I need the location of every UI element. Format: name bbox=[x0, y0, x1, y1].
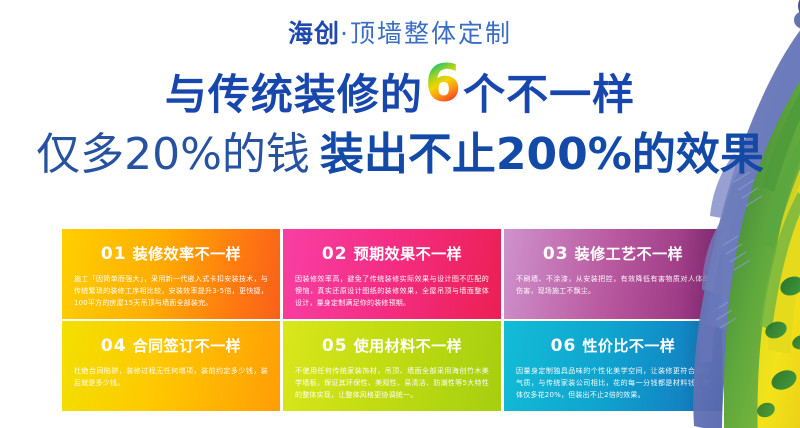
feature-card-05-header: 05使用材料不一样 bbox=[295, 335, 489, 356]
feature-card-01[interactable]: 01装修效率不一样 施工「因简单而强大」，采用新一代嵌入式卡扣安装技术，与传统繁… bbox=[62, 229, 280, 319]
feature-card-02-header: 02预期效果不一样 bbox=[295, 243, 489, 264]
feature-card-05[interactable]: 05使用材料不一样 不使用任何传统家装饰材，吊顶、墙面全部采用海创竹木美学墙板，… bbox=[283, 321, 501, 411]
brand-name-main: 海创 bbox=[288, 19, 340, 48]
feature-card-04[interactable]: 04合同签订不一样 杜绝合同陷阱，装修过程无任何增项，装前约定多少钱，装后就是多… bbox=[62, 321, 280, 411]
brand-name-sub: 顶墙整体定制 bbox=[350, 19, 512, 48]
feature-card-06-title: 性价比不一样 bbox=[582, 337, 675, 355]
feature-card-01-title: 装修效率不一样 bbox=[133, 245, 242, 263]
feature-card-06-number: 06 bbox=[551, 336, 577, 356]
feature-card-05-title: 使用材料不一样 bbox=[354, 337, 463, 355]
headline-1-number: 6 bbox=[425, 58, 461, 110]
feature-card-03[interactable]: 03装修工艺不一样 不刷墙、不涂漆，从安装把控，有效降低有害物质对人体的伤害，现… bbox=[504, 229, 722, 319]
feature-card-04-body: 杜绝合同陷阱，装修过程无任何增项，装前约定多少钱，装后就是多少钱。 bbox=[74, 365, 268, 389]
feature-card-02-title: 预期效果不一样 bbox=[354, 245, 463, 263]
feature-card-01-header: 01装修效率不一样 bbox=[74, 243, 268, 264]
feature-card-04-title: 合同签订不一样 bbox=[133, 337, 242, 355]
brand-line: 海创·顶墙整体定制 bbox=[0, 14, 800, 50]
feature-card-03-number: 03 bbox=[543, 244, 569, 264]
feature-card-03-title: 装修工艺不一样 bbox=[575, 245, 684, 263]
feature-card-05-number: 05 bbox=[322, 336, 348, 356]
feature-card-01-number: 01 bbox=[101, 244, 127, 264]
feature-card-03-body: 不刷墙、不涂漆，从安装把控，有效降低有害物质对人体的伤害，现场施工不飘尘。 bbox=[516, 273, 710, 297]
promo-poster: 海创·顶墙整体定制 与传统装修的6个不一样 仅多20%的钱装出不止200%的效果… bbox=[0, 0, 800, 428]
feature-cards-grid: 01装修效率不一样 施工「因简单而强大」，采用新一代嵌入式卡扣安装技术，与传统繁… bbox=[62, 229, 722, 411]
feature-card-02-number: 02 bbox=[322, 244, 348, 264]
feature-card-01-body: 施工「因简单而强大」，采用新一代嵌入式卡扣安装技术，与传统繁琐的装修工序相比较，… bbox=[74, 273, 268, 309]
feature-card-04-header: 04合同签订不一样 bbox=[74, 335, 268, 356]
feature-card-03-header: 03装修工艺不一样 bbox=[516, 243, 710, 264]
headline-1-prefix: 与传统装修的 bbox=[165, 70, 423, 119]
brand-name: 海创·顶墙整体定制 bbox=[288, 14, 512, 50]
headline-line-1: 与传统装修的6个不一样 bbox=[0, 58, 800, 122]
feature-card-02-body: 因装修效率高，避免了传统装修实际效果与设计图不匹配的懊恼，真实还原设计图纸的装修… bbox=[295, 273, 489, 309]
feature-card-06[interactable]: 06性价比不一样 因量身定制独具品味的个性化美学空间，让装修更符合你的气质，与传… bbox=[504, 321, 722, 411]
feature-card-04-number: 04 bbox=[101, 336, 127, 356]
feature-card-06-body: 因量身定制独具品味的个性化美学空间，让装修更符合你的气质，与传统家装公司相比，花… bbox=[516, 365, 710, 401]
feature-card-02[interactable]: 02预期效果不一样 因装修效率高，避免了传统装修实际效果与设计图不匹配的懊恼，真… bbox=[283, 229, 501, 319]
headline-line-2: 仅多20%的钱装出不止200%的效果 bbox=[0, 118, 800, 182]
headline-2-light: 仅多20%的钱 bbox=[36, 129, 310, 180]
headline-2-bold: 装出不止200%的效果 bbox=[320, 129, 764, 180]
headline-1-suffix: 个不一样 bbox=[463, 70, 635, 119]
brand-separator: · bbox=[340, 19, 350, 48]
feature-card-06-header: 06性价比不一样 bbox=[516, 335, 710, 356]
feature-card-05-body: 不使用任何传统家装饰材，吊顶、墙面全部采用海创竹木美学墙板，保证其环保性、美观性… bbox=[295, 365, 489, 401]
